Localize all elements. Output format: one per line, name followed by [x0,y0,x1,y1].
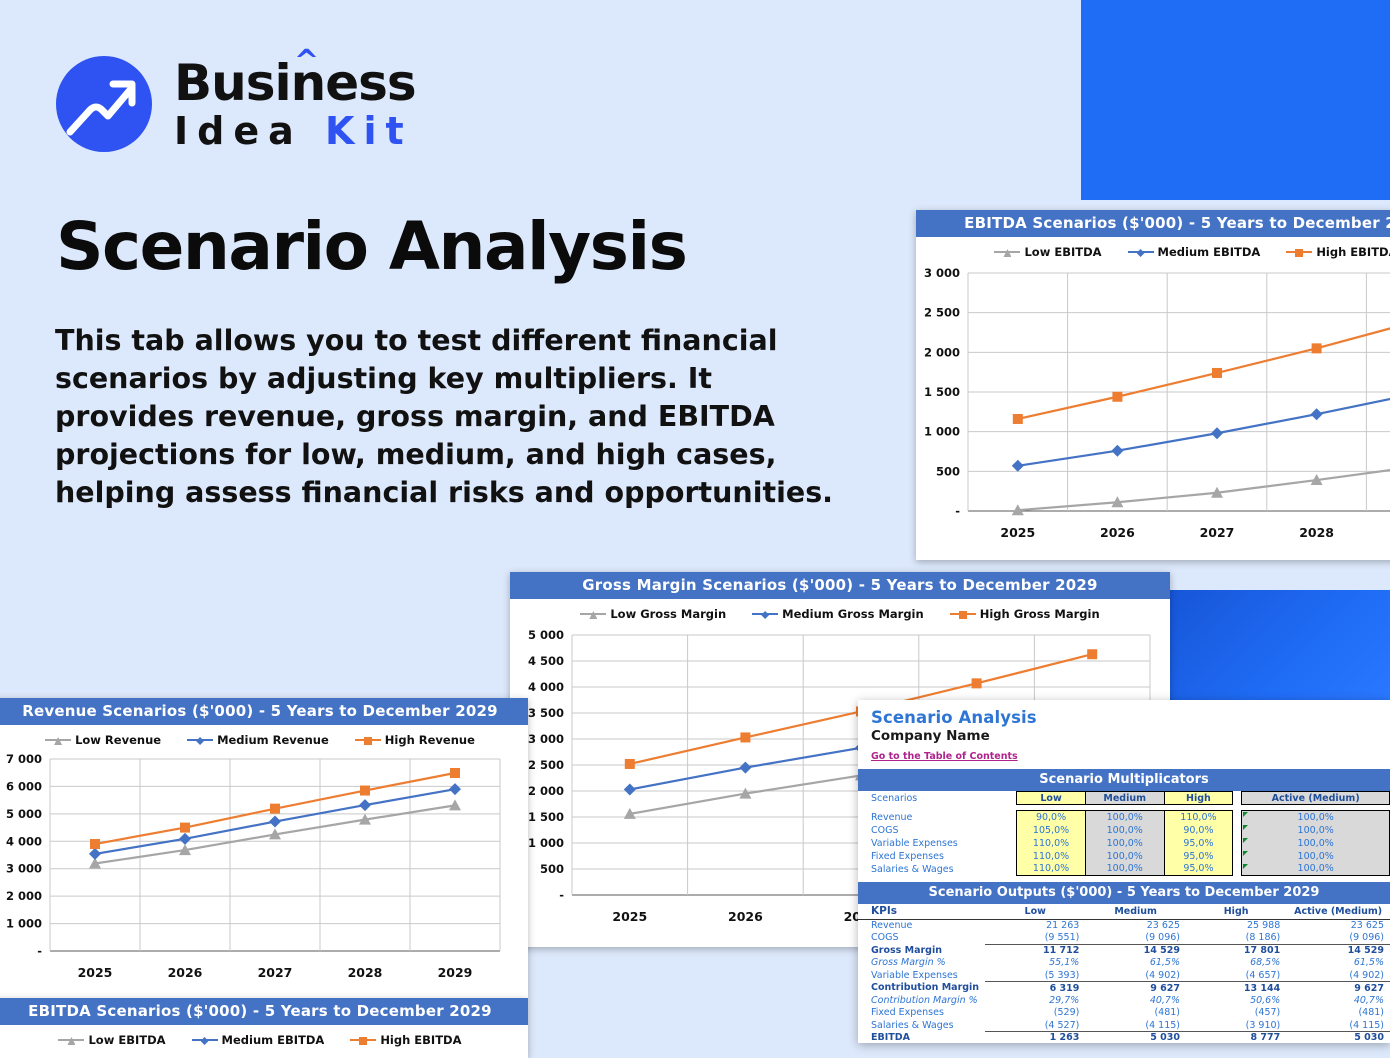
legend-item: Medium EBITDA [1128,245,1261,259]
chart-card-ebitda-bottom: EBITDA Scenarios ($'000) - 5 Years to De… [0,998,528,1058]
cell-active: (4 902) [1286,969,1390,982]
cell-active[interactable]: 100,0% [1242,837,1390,850]
svg-text:2025: 2025 [1000,525,1035,540]
cell-low[interactable]: 90,0% [1017,811,1086,824]
table-row: COGS105,0%100,0%90,0%100,0% [858,824,1390,837]
legend-label: Low Revenue [75,733,161,747]
svg-text:2 000: 2 000 [924,345,960,359]
cell-high[interactable]: 95,0% [1164,837,1233,850]
scenario-outputs-table: KPIsLowMediumHighActive (Medium)Revenue2… [858,904,1390,1043]
legend-label: Low Gross Margin [610,607,726,621]
legend-label: Medium EBITDA [222,1033,325,1047]
cell-medium[interactable]: 100,0% [1085,824,1164,837]
table-row: Gross Margin %55,1%61,5%68,5%61,5% [858,957,1390,970]
cell-low: 21 263 [985,919,1085,932]
scenario-panel-title: Scenario Analysis [871,708,1390,727]
scenario-multiplicators-table: ScenariosLowMediumHighActive (Medium)Rev… [858,791,1390,876]
outputs-band-title: Scenario Outputs ($'000) - 5 Years to De… [858,882,1390,904]
legend-swatch-icon [950,613,976,615]
cell-low: 11 712 [985,944,1085,957]
legend-item: Low EBITDA [58,1033,165,1047]
page-description: This tab allows you to test different fi… [55,322,855,512]
multiplicators-row-header: Scenarios [858,792,1017,805]
legend-swatch-icon [994,251,1020,253]
svg-text:2029: 2029 [438,965,473,980]
table-row: COGS(9 551)(9 096)(8 186)(9 096) [858,932,1390,945]
svg-text:3 000: 3 000 [924,266,960,280]
svg-text:2 500: 2 500 [924,306,960,320]
chart-legend: Low EBITDAMedium EBITDAHigh EBITDA [916,237,1390,263]
svg-text:-: - [559,888,564,902]
svg-text:2026: 2026 [1100,525,1135,540]
cell-active: 40,7% [1286,994,1390,1007]
multiplicators-band-title: Scenario Multiplicators [858,769,1390,791]
cell-active: 23 625 [1286,919,1390,932]
growth-arrow-icon [56,56,152,152]
legend-item: Medium Revenue [187,733,329,747]
cell-medium: 61,5% [1085,957,1186,970]
svg-text:1 500: 1 500 [924,385,960,399]
legend-swatch-icon [580,613,606,615]
row-label: Gross Margin % [858,957,985,970]
svg-text:2028: 2028 [1299,525,1334,540]
page-title: Scenario Analysis [56,208,686,285]
cell-active[interactable]: 100,0% [1242,824,1390,837]
cell-high: 50,6% [1186,994,1286,1007]
column-header: Low [985,904,1085,919]
legend-swatch-icon [350,1039,376,1041]
svg-text:3 000: 3 000 [528,732,564,746]
svg-text:2025: 2025 [612,909,647,924]
legend-item: High EBITDA [1286,245,1390,259]
chart-legend: Low EBITDAMedium EBITDAHigh EBITDA [0,1025,528,1051]
cell-high[interactable]: 110,0% [1164,811,1233,824]
legend-label: High EBITDA [1316,245,1390,259]
cell-medium: 9 627 [1085,982,1186,995]
cell-medium: (9 096) [1085,932,1186,945]
svg-text:3 500: 3 500 [528,706,564,720]
column-header: Medium [1085,792,1164,805]
svg-text:4 000: 4 000 [6,834,42,848]
cell-active: (481) [1286,1007,1390,1020]
legend-item: Medium EBITDA [192,1033,325,1047]
svg-text:4 500: 4 500 [528,654,564,668]
cell-high: (457) [1186,1007,1286,1020]
table-row: Gross Margin11 71214 52917 80114 529 [858,944,1390,957]
cell-active: 5 030 [1286,1032,1390,1044]
brand-caret-icon: ^ [294,47,318,77]
legend-swatch-icon [752,613,778,615]
cell-medium[interactable]: 100,0% [1085,837,1164,850]
svg-text:2 000: 2 000 [6,889,42,903]
legend-swatch-icon [187,739,213,741]
row-label: EBITDA [858,1032,985,1044]
svg-text:2027: 2027 [1200,525,1235,540]
row-label: Revenue [858,811,1017,824]
column-header: High [1164,792,1233,805]
legend-swatch-icon [45,739,71,741]
cell-active[interactable]: 100,0% [1242,863,1390,876]
row-label: Fixed Expenses [858,850,1017,863]
cell-active: (9 096) [1286,932,1390,945]
legend-swatch-icon [1286,251,1312,253]
column-header: Low [1017,792,1086,805]
column-header: Medium [1085,904,1186,919]
cell-high: (4 657) [1186,969,1286,982]
svg-text:2027: 2027 [258,965,293,980]
cell-low: (529) [985,1007,1085,1020]
table-row: Salaries & Wages110,0%100,0%95,0%100,0% [858,863,1390,876]
cell-active: 61,5% [1286,957,1390,970]
cell-low: (9 551) [985,932,1085,945]
chart-card-revenue: Revenue Scenarios ($'000) - 5 Years to D… [0,698,528,998]
scenario-panel-header: Scenario Analysis Company Name Go to the… [858,700,1390,763]
legend-label: High Gross Margin [980,607,1100,621]
cell-high: 68,5% [1186,957,1286,970]
column-header: High [1186,904,1286,919]
row-label: Variable Expenses [858,969,985,982]
row-label: Salaries & Wages [858,1019,985,1032]
table-row: Contribution Margin %29,7%40,7%50,6%40,7… [858,994,1390,1007]
legend-swatch-icon [355,739,381,741]
row-label: Salaries & Wages [858,863,1017,876]
row-label: Fixed Expenses [858,1007,985,1020]
cell-low[interactable]: 105,0% [1017,824,1086,837]
active-column-header: Active (Medium) [1242,792,1390,805]
row-label: Revenue [858,919,985,932]
table-row: Contribution Margin6 3199 62713 1449 627 [858,982,1390,995]
svg-text:-: - [955,504,960,518]
legend-item: Low Gross Margin [580,607,726,621]
svg-text:500: 500 [540,862,564,876]
svg-text:2026: 2026 [728,909,763,924]
legend-item: High Revenue [355,733,475,747]
cell-high[interactable]: 95,0% [1164,863,1233,876]
cell-high: 13 144 [1186,982,1286,995]
svg-text:2 500: 2 500 [528,758,564,772]
svg-text:2 000: 2 000 [528,784,564,798]
decor-block-middle-right [1170,590,1390,700]
svg-text:1 000: 1 000 [528,836,564,850]
svg-text:1 500: 1 500 [528,810,564,824]
svg-text:5 000: 5 000 [528,628,564,642]
chart-legend: Low RevenueMedium RevenueHigh Revenue [0,725,528,751]
chart-title: Revenue Scenarios ($'000) - 5 Years to D… [0,698,528,725]
cell-medium[interactable]: 100,0% [1085,863,1164,876]
svg-text:-: - [37,944,42,958]
svg-text:2025: 2025 [78,965,113,980]
cell-high: 25 988 [1186,919,1286,932]
cell-low[interactable]: 110,0% [1017,850,1086,863]
legend-swatch-icon [58,1039,84,1041]
active-column-header: Active (Medium) [1286,904,1390,919]
svg-text:500: 500 [936,464,960,478]
legend-label: High Revenue [385,733,475,747]
scenario-analysis-panel: Scenario Analysis Company Name Go to the… [858,700,1390,1043]
cell-medium: (4 902) [1085,969,1186,982]
legend-item: Low Revenue [45,733,161,747]
cell-medium: (481) [1085,1007,1186,1020]
legend-label: Medium Revenue [217,733,329,747]
legend-label: High EBITDA [380,1033,461,1047]
svg-text:2026: 2026 [168,965,203,980]
cell-high: 8 777 [1186,1032,1286,1044]
cell-high: (3 910) [1186,1019,1286,1032]
cell-low: 6 319 [985,982,1085,995]
table-row: Revenue90,0%100,0%110,0%100,0% [858,811,1390,824]
table-row: Revenue21 26323 62525 98823 625 [858,919,1390,932]
cell-medium: 5 030 [1085,1032,1186,1044]
legend-item: Medium Gross Margin [752,607,924,621]
row-label: Variable Expenses [858,837,1017,850]
svg-text:1 000: 1 000 [924,425,960,439]
brand-idea-text: Idea [174,109,303,153]
cell-active: (4 115) [1286,1019,1390,1032]
row-label: Contribution Margin [858,982,985,995]
table-row: Variable Expenses110,0%100,0%95,0%100,0% [858,837,1390,850]
legend-label: Medium EBITDA [1158,245,1261,259]
table-row: KPIsLowMediumHighActive (Medium) [858,904,1390,919]
svg-text:3 000: 3 000 [6,862,42,876]
table-row: Salaries & Wages(4 527)(4 115)(3 910)(4 … [858,1019,1390,1032]
decor-block-top-right [1081,0,1390,200]
svg-text:5 000: 5 000 [6,807,42,821]
legend-label: Low EBITDA [88,1033,165,1047]
svg-text:2028: 2028 [348,965,383,980]
cell-active: 14 529 [1286,944,1390,957]
table-row: Fixed Expenses110,0%100,0%95,0%100,0% [858,850,1390,863]
table-row: Fixed Expenses(529)(481)(457)(481) [858,1007,1390,1020]
svg-text:6 000: 6 000 [6,779,42,793]
outputs-row-header: KPIs [858,904,985,919]
legend-item: High Gross Margin [950,607,1100,621]
brand-name-line2: Idea Kit [174,112,416,150]
cell-low[interactable]: 110,0% [1017,837,1086,850]
chart-title: EBITDA Scenarios ($'000) - 5 Years to De… [0,998,528,1025]
legend-label: Medium Gross Margin [782,607,924,621]
table-of-contents-link[interactable]: Go to the Table of Contents [871,751,1018,762]
legend-item: High EBITDA [350,1033,461,1047]
cell-low: 1 263 [985,1032,1085,1044]
table-row: ScenariosLowMediumHighActive (Medium) [858,792,1390,805]
cell-medium: 40,7% [1085,994,1186,1007]
row-label: COGS [858,932,985,945]
cell-low[interactable]: 110,0% [1017,863,1086,876]
brand-logo-lockup: Business ^ Idea Kit [56,56,416,152]
row-label: Gross Margin [858,944,985,957]
cell-low: (5 393) [985,969,1085,982]
svg-text:1 000: 1 000 [6,917,42,931]
cell-active[interactable]: 100,0% [1242,850,1390,863]
cell-medium[interactable]: 100,0% [1085,850,1164,863]
legend-item: Low EBITDA [994,245,1101,259]
cell-low: (4 527) [985,1019,1085,1032]
cell-medium: 14 529 [1085,944,1186,957]
chart-plot: -5001 0001 5002 0002 5003 00020252026202… [916,263,1390,553]
row-label: Contribution Margin % [858,994,985,1007]
cell-active: 9 627 [1286,982,1390,995]
cell-high: (8 186) [1186,932,1286,945]
cell-medium[interactable]: 100,0% [1085,811,1164,824]
cell-medium: (4 115) [1085,1019,1186,1032]
cell-low: 29,7% [985,994,1085,1007]
legend-swatch-icon [1128,251,1154,253]
legend-swatch-icon [192,1039,218,1041]
chart-title: Gross Margin Scenarios ($'000) - 5 Years… [510,572,1170,599]
svg-text:4 000: 4 000 [528,680,564,694]
table-row: Variable Expenses(5 393)(4 902)(4 657)(4… [858,969,1390,982]
brand-kit-text: Kit [325,109,413,153]
row-label: COGS [858,824,1017,837]
chart-plot: -1 0002 0003 0004 0005 0006 0007 0002025… [0,751,528,987]
chart-legend: Low Gross MarginMedium Gross MarginHigh … [510,599,1170,625]
company-name: Company Name [871,728,1390,744]
cell-high[interactable]: 95,0% [1164,850,1233,863]
cell-low: 55,1% [985,957,1085,970]
cell-medium: 23 625 [1085,919,1186,932]
svg-text:7 000: 7 000 [6,752,42,766]
table-row: EBITDA1 2635 0308 7775 030 [858,1032,1390,1044]
cell-active[interactable]: 100,0% [1242,811,1390,824]
cell-high[interactable]: 90,0% [1164,824,1233,837]
cell-high: 17 801 [1186,944,1286,957]
chart-card-ebitda-top: EBITDA Scenarios ($'000) - 5 Years to De… [916,210,1390,560]
chart-title: EBITDA Scenarios ($'000) - 5 Years to De… [916,210,1390,237]
brand-name-line1: Business ^ [174,58,416,108]
legend-label: Low EBITDA [1024,245,1101,259]
